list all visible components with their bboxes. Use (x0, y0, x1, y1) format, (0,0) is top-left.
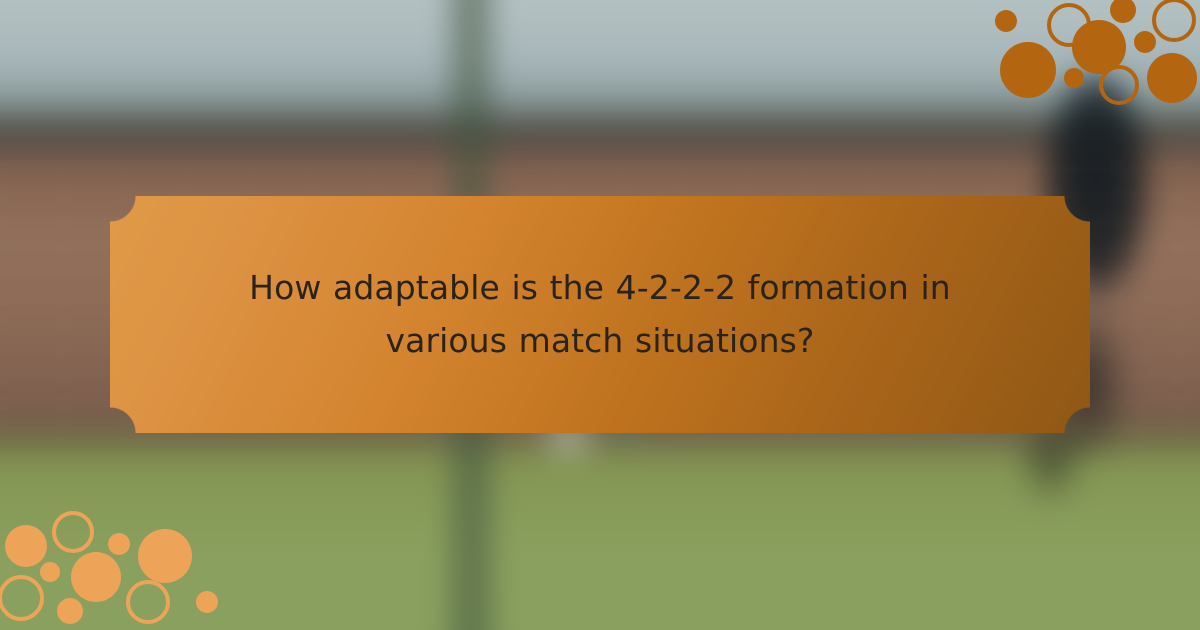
question-text: How adaptable is the 4-2-2-2 formation i… (220, 262, 980, 366)
question-card: How adaptable is the 4-2-2-2 formation i… (110, 196, 1090, 433)
poster-canvas: How adaptable is the 4-2-2-2 formation i… (0, 0, 1200, 630)
